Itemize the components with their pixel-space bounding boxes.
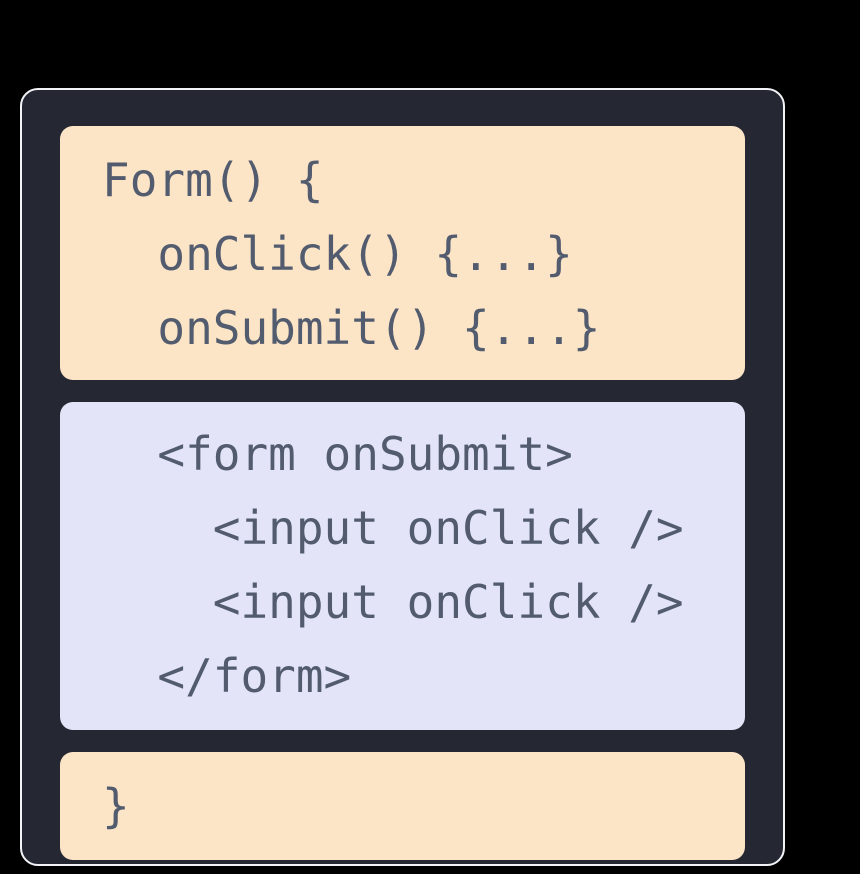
code-line: onSubmit() {...}	[60, 291, 745, 365]
diagram-canvas: Form() { onClick() {...} onSubmit() {...…	[0, 0, 860, 874]
code-card: Form() { onClick() {...} onSubmit() {...…	[20, 88, 785, 866]
code-line: </form>	[60, 639, 745, 713]
code-line: Form() {	[60, 143, 745, 217]
code-line: onClick() {...}	[60, 217, 745, 291]
code-line: <form onSubmit>	[60, 417, 745, 491]
code-line: }	[60, 769, 745, 843]
code-panel-component-signature: Form() { onClick() {...} onSubmit() {...…	[60, 126, 745, 380]
code-line: <input onClick />	[60, 565, 745, 639]
code-panel-component-closing: }	[60, 752, 745, 860]
code-line: <input onClick />	[60, 491, 745, 565]
code-panel-markup-body: <form onSubmit> <input onClick /> <input…	[60, 402, 745, 730]
